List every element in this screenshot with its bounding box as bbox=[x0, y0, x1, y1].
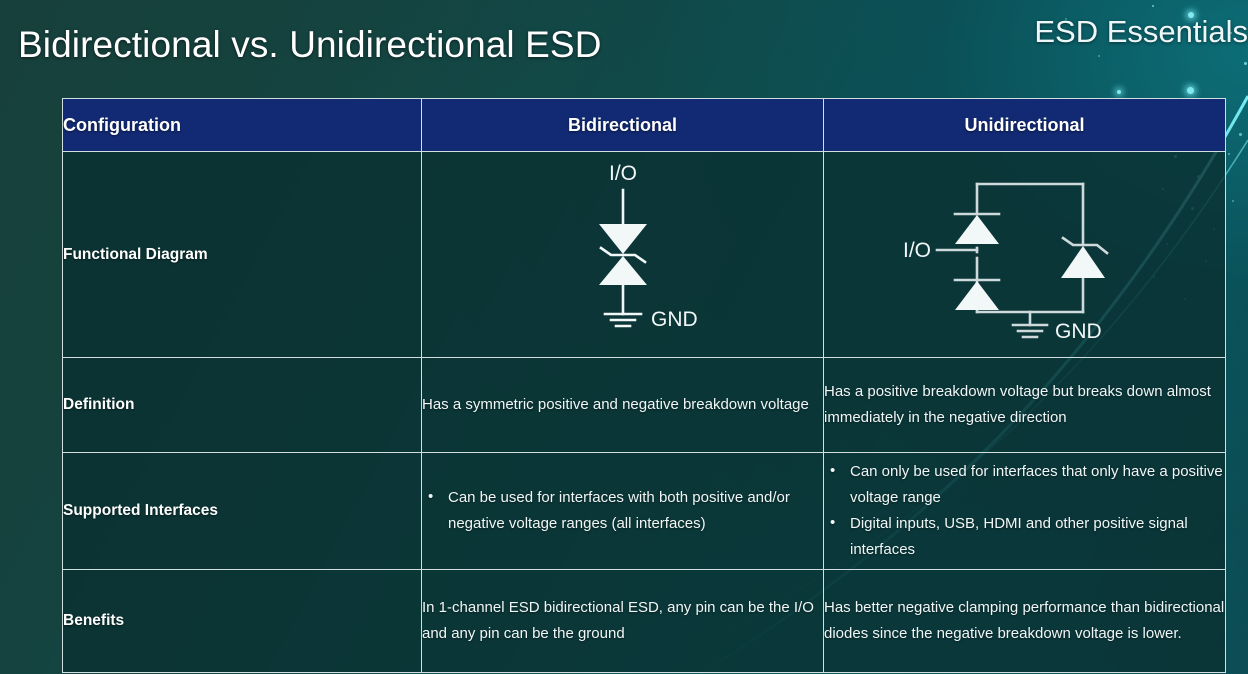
io-label: I/O bbox=[902, 239, 930, 262]
bidirectional-tvs-diode-icon: I/O GND bbox=[523, 162, 723, 347]
table-row: Benefits In 1-channel ESD bidirectional … bbox=[63, 570, 1226, 673]
table-row: Definition Has a symmetric positive and … bbox=[63, 358, 1226, 453]
column-header-bidirectional: Bidirectional bbox=[422, 99, 824, 152]
bullet-list: Can be used for interfaces with both pos… bbox=[422, 485, 823, 537]
cell-benefits-bidirectional: In 1-channel ESD bidirectional ESD, any … bbox=[422, 570, 824, 673]
cell-bidirectional-diagram: I/O GND bbox=[422, 152, 824, 358]
row-label-supported-interfaces: Supported Interfaces bbox=[63, 453, 422, 570]
star-dot bbox=[1232, 200, 1234, 202]
table-row: Functional Diagram bbox=[63, 152, 1226, 358]
slide-root: Bidirectional vs. Unidirectional ESD ESD… bbox=[0, 0, 1248, 674]
star-dot bbox=[1152, 5, 1154, 7]
star-dot bbox=[1239, 133, 1242, 136]
unidirectional-esd-diode-icon: I/O GND bbox=[885, 162, 1165, 347]
table-head: Configuration Bidirectional Unidirection… bbox=[63, 99, 1226, 152]
brand-label: ESD Essentials bbox=[1034, 14, 1248, 50]
star-dot bbox=[1244, 62, 1247, 65]
star-dot bbox=[1187, 87, 1194, 94]
diode-triangle-up bbox=[599, 256, 647, 285]
list-item: Can only be used for interfaces that onl… bbox=[824, 459, 1225, 511]
column-header-configuration: Configuration bbox=[63, 99, 422, 152]
star-dot bbox=[1098, 55, 1100, 57]
table-header-row: Configuration Bidirectional Unidirection… bbox=[63, 99, 1226, 152]
list-item: Can be used for interfaces with both pos… bbox=[422, 485, 823, 537]
table-row: Supported Interfaces Can be used for int… bbox=[63, 453, 1226, 570]
steering-diode-lower bbox=[955, 281, 999, 310]
diode-triangle-down bbox=[599, 224, 647, 254]
io-label: I/O bbox=[608, 162, 636, 185]
row-label-definition: Definition bbox=[63, 358, 422, 453]
cell-unidirectional-diagram: I/O GND bbox=[824, 152, 1226, 358]
comparison-table: Configuration Bidirectional Unidirection… bbox=[62, 98, 1226, 673]
gnd-label: GND bbox=[1055, 320, 1102, 343]
cell-benefits-unidirectional: Has better negative clamping performance… bbox=[824, 570, 1226, 673]
star-dot bbox=[1228, 153, 1230, 155]
comparison-table-wrapper: Configuration Bidirectional Unidirection… bbox=[62, 98, 1222, 673]
page-title: Bidirectional vs. Unidirectional ESD bbox=[18, 24, 602, 66]
star-dot bbox=[1117, 90, 1121, 94]
table-body: Functional Diagram bbox=[63, 152, 1226, 673]
bullet-list: Can only be used for interfaces that onl… bbox=[824, 459, 1225, 562]
zener-diode bbox=[1061, 246, 1105, 278]
cell-definition-unidirectional: Has a positive breakdown voltage but bre… bbox=[824, 358, 1226, 453]
row-label-benefits: Benefits bbox=[63, 570, 422, 673]
cell-definition-bidirectional: Has a symmetric positive and negative br… bbox=[422, 358, 824, 453]
row-label-functional-diagram: Functional Diagram bbox=[63, 152, 422, 358]
cell-supported-unidirectional: Can only be used for interfaces that onl… bbox=[824, 453, 1226, 570]
cell-supported-bidirectional: Can be used for interfaces with both pos… bbox=[422, 453, 824, 570]
column-header-unidirectional: Unidirectional bbox=[824, 99, 1226, 152]
gnd-label: GND bbox=[651, 308, 698, 331]
list-item: Digital inputs, USB, HDMI and other posi… bbox=[824, 511, 1225, 563]
steering-diode-upper bbox=[955, 215, 999, 244]
